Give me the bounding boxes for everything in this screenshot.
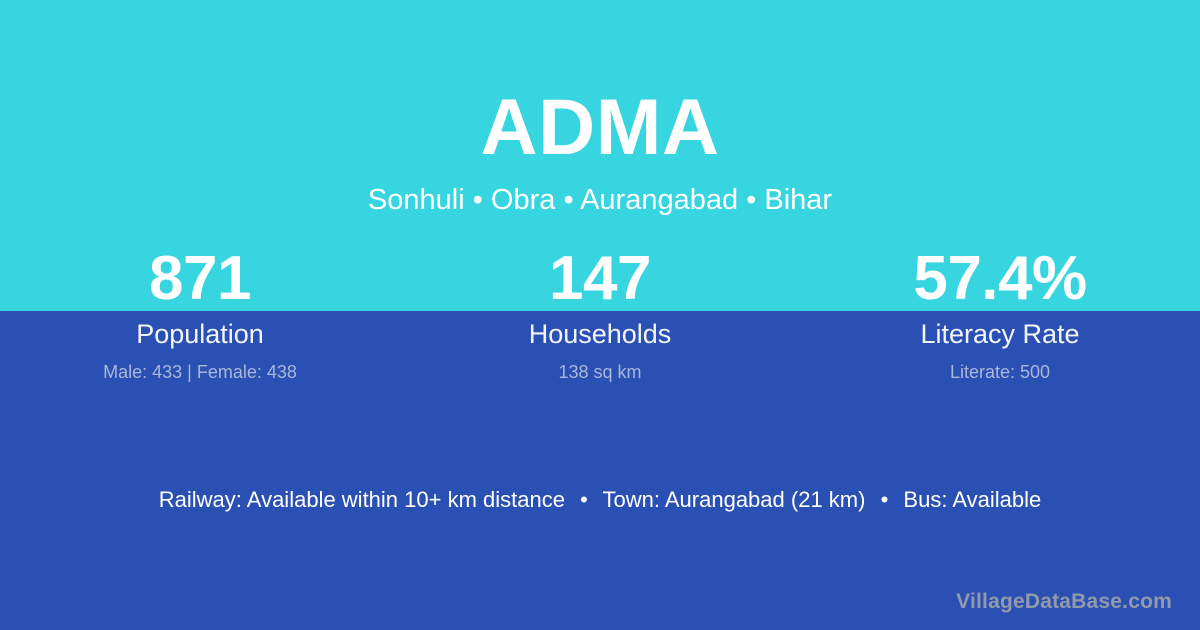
page-title: ADMA <box>0 80 1200 174</box>
amenities-row: Railway: Available within 10+ km distanc… <box>0 485 1200 515</box>
site-watermark: VillageDataBase.com <box>956 588 1172 616</box>
amenity-bus: Bus: Available <box>903 487 1041 512</box>
stats-row: 871 Population Male: 433 | Female: 438 1… <box>0 243 1200 385</box>
stat-literacy-rate: 57.4% Literacy Rate Literate: 500 <box>800 243 1200 385</box>
stat-households-subtext: 138 sq km <box>400 359 800 385</box>
stat-literacy-rate-value: 57.4% <box>800 243 1200 315</box>
stat-households: 147 Households 138 sq km <box>400 243 800 385</box>
stat-households-label: Households <box>400 317 800 351</box>
stat-population: 871 Population Male: 433 | Female: 438 <box>0 243 400 385</box>
amenity-separator-icon: • <box>872 485 898 515</box>
amenity-railway: Railway: Available within 10+ km distanc… <box>159 487 565 512</box>
stat-literacy-rate-subtext: Literate: 500 <box>800 359 1200 385</box>
amenity-town: Town: Aurangabad (21 km) <box>603 487 866 512</box>
stat-population-label: Population <box>0 317 400 351</box>
stat-literacy-rate-label: Literacy Rate <box>800 317 1200 351</box>
stat-population-value: 871 <box>0 243 400 315</box>
breadcrumb: Sonhuli • Obra • Aurangabad • Bihar <box>0 181 1200 219</box>
stat-population-subtext: Male: 433 | Female: 438 <box>0 359 400 385</box>
village-info-card: ADMA Sonhuli • Obra • Aurangabad • Bihar… <box>0 0 1200 630</box>
stat-households-value: 147 <box>400 243 800 315</box>
amenity-separator-icon: • <box>571 485 597 515</box>
